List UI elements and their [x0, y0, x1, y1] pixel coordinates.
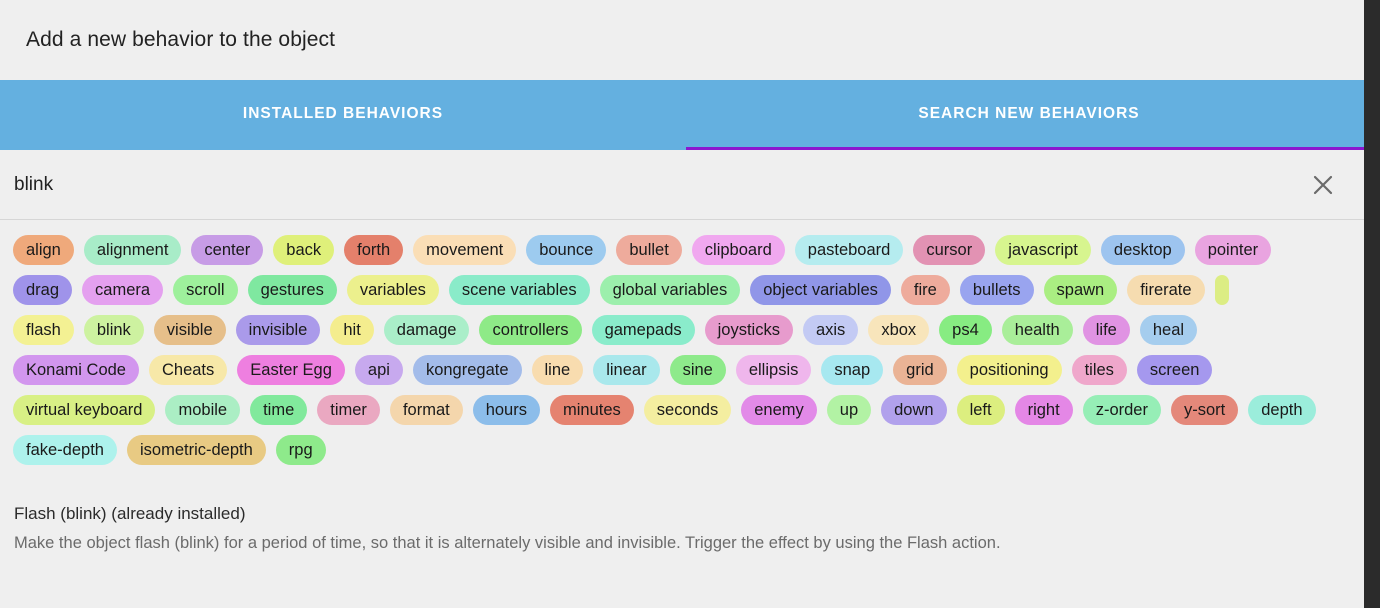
tag-chip[interactable]: grid: [893, 355, 947, 385]
tag-chip[interactable]: xbox: [868, 315, 929, 345]
tag-chip[interactable]: enemy: [741, 395, 817, 425]
tag-row: fake-depthisometric-depthrpg: [8, 430, 1364, 470]
tag-chip[interactable]: flash: [13, 315, 74, 345]
tag-chip[interactable]: left: [957, 395, 1005, 425]
tag-chip[interactable]: clipboard: [692, 235, 785, 265]
add-behavior-dialog: Add a new behavior to the object INSTALL…: [0, 0, 1372, 608]
tag-chip[interactable]: Konami Code: [13, 355, 139, 385]
dialog-header: Add a new behavior to the object: [0, 0, 1372, 80]
tag-chip[interactable]: format: [390, 395, 463, 425]
result-panel: Flash (blink) (already installed) Make t…: [0, 476, 1372, 554]
search-bar: [0, 150, 1372, 220]
tag-row: virtual keyboardmobiletimetimerformathou…: [8, 390, 1364, 430]
tag-chip[interactable]: hit: [330, 315, 373, 345]
tag-chip[interactable]: pasteboard: [795, 235, 904, 265]
tag-chip[interactable]: Easter Egg: [237, 355, 345, 385]
tag-chip[interactable]: damage: [384, 315, 470, 345]
tag-chip[interactable]: screen: [1137, 355, 1213, 385]
search-input[interactable]: [14, 174, 1302, 196]
tag-chip[interactable]: movement: [413, 235, 516, 265]
tag-chip[interactable]: variables: [347, 275, 439, 305]
tag-chip[interactable]: forth: [344, 235, 403, 265]
tag-chip[interactable]: ps4: [939, 315, 992, 345]
tag-row: alignalignmentcenterbackforthmovementbou…: [8, 230, 1364, 270]
tag-row: Konami CodeCheatsEaster Eggapikongregate…: [8, 350, 1364, 390]
tag-chip[interactable]: virtual keyboard: [13, 395, 155, 425]
tag-chip[interactable]: api: [355, 355, 403, 385]
tag-chip[interactable]: right: [1015, 395, 1073, 425]
tag-chip[interactable]: desktop: [1101, 235, 1185, 265]
tag-chip[interactable]: snap: [821, 355, 883, 385]
tag-chip[interactable]: blink: [84, 315, 144, 345]
tag-chip[interactable]: javascript: [995, 235, 1091, 265]
tag-chip[interactable]: drag: [13, 275, 72, 305]
tag-chip[interactable]: isometric-depth: [127, 435, 266, 465]
page-title: Add a new behavior to the object: [26, 28, 335, 52]
tag-chip[interactable]: align: [13, 235, 74, 265]
tag-chip[interactable]: heal: [1140, 315, 1197, 345]
tab-bar: INSTALLED BEHAVIORS SEARCH NEW BEHAVIORS: [0, 80, 1372, 150]
tag-chip[interactable]: gamepads: [592, 315, 695, 345]
tag-chip[interactable]: kongregate: [413, 355, 522, 385]
tag-chip[interactable]: mobile: [165, 395, 240, 425]
tag-chip[interactable]: y-sort: [1171, 395, 1238, 425]
tag-chip[interactable]: health: [1002, 315, 1073, 345]
tag-chip[interactable]: seconds: [644, 395, 731, 425]
tag-chip[interactable]: firerate: [1127, 275, 1204, 305]
tag-chip[interactable]: axis: [803, 315, 858, 345]
tag-chip[interactable]: cursor: [913, 235, 985, 265]
tag-chip[interactable]: down: [881, 395, 946, 425]
tag-chip[interactable]: tiles: [1072, 355, 1127, 385]
tag-row: flashblinkvisibleinvisiblehitdamagecontr…: [8, 310, 1364, 350]
tag-chip[interactable]: camera: [82, 275, 163, 305]
tag-row: dragcamerascrollgesturesvariablesscene v…: [8, 270, 1364, 310]
tag-chip[interactable]: Cheats: [149, 355, 227, 385]
tag-chip-empty[interactable]: [1215, 275, 1229, 305]
tag-chip[interactable]: alignment: [84, 235, 182, 265]
tag-chip[interactable]: up: [827, 395, 871, 425]
tag-chip[interactable]: life: [1083, 315, 1130, 345]
tag-chip[interactable]: joysticks: [705, 315, 793, 345]
tag-chip[interactable]: visible: [154, 315, 226, 345]
tag-chip[interactable]: fire: [901, 275, 950, 305]
tag-chip[interactable]: scroll: [173, 275, 238, 305]
tab-installed-behaviors-label: INSTALLED BEHAVIORS: [243, 105, 443, 123]
tag-chip[interactable]: scene variables: [449, 275, 590, 305]
tag-chip[interactable]: bounce: [526, 235, 606, 265]
window-right-edge: [1364, 0, 1372, 608]
tag-chip[interactable]: ellipsis: [736, 355, 812, 385]
tab-search-new-behaviors[interactable]: SEARCH NEW BEHAVIORS: [686, 80, 1372, 150]
tag-chip[interactable]: gestures: [248, 275, 337, 305]
tag-chip[interactable]: minutes: [550, 395, 634, 425]
tag-chip[interactable]: spawn: [1044, 275, 1118, 305]
tag-chip[interactable]: back: [273, 235, 334, 265]
result-description: Make the object flash (blink) for a peri…: [14, 533, 1358, 554]
tag-chip[interactable]: pointer: [1195, 235, 1271, 265]
tag-chip[interactable]: bullets: [960, 275, 1034, 305]
tag-chip[interactable]: bullet: [616, 235, 681, 265]
tag-chip[interactable]: linear: [593, 355, 659, 385]
tag-chip[interactable]: hours: [473, 395, 540, 425]
tag-chip[interactable]: center: [191, 235, 263, 265]
tab-search-new-behaviors-label: SEARCH NEW BEHAVIORS: [918, 105, 1139, 123]
tag-chip[interactable]: global variables: [600, 275, 741, 305]
tag-chip[interactable]: z-order: [1083, 395, 1161, 425]
tag-chip[interactable]: line: [532, 355, 584, 385]
tab-installed-behaviors[interactable]: INSTALLED BEHAVIORS: [0, 80, 686, 150]
tag-chip[interactable]: controllers: [479, 315, 581, 345]
tag-chip[interactable]: positioning: [957, 355, 1062, 385]
tag-chip[interactable]: fake-depth: [13, 435, 117, 465]
tag-chip[interactable]: rpg: [276, 435, 326, 465]
tag-chip[interactable]: invisible: [236, 315, 321, 345]
tag-chip[interactable]: depth: [1248, 395, 1315, 425]
tag-chip[interactable]: timer: [317, 395, 380, 425]
tag-chip[interactable]: sine: [670, 355, 726, 385]
close-icon[interactable]: [1302, 164, 1344, 206]
tag-cloud: alignalignmentcenterbackforthmovementbou…: [0, 220, 1372, 476]
result-title: Flash (blink) (already installed): [14, 504, 1358, 524]
tag-chip[interactable]: time: [250, 395, 307, 425]
tag-chip[interactable]: object variables: [750, 275, 891, 305]
